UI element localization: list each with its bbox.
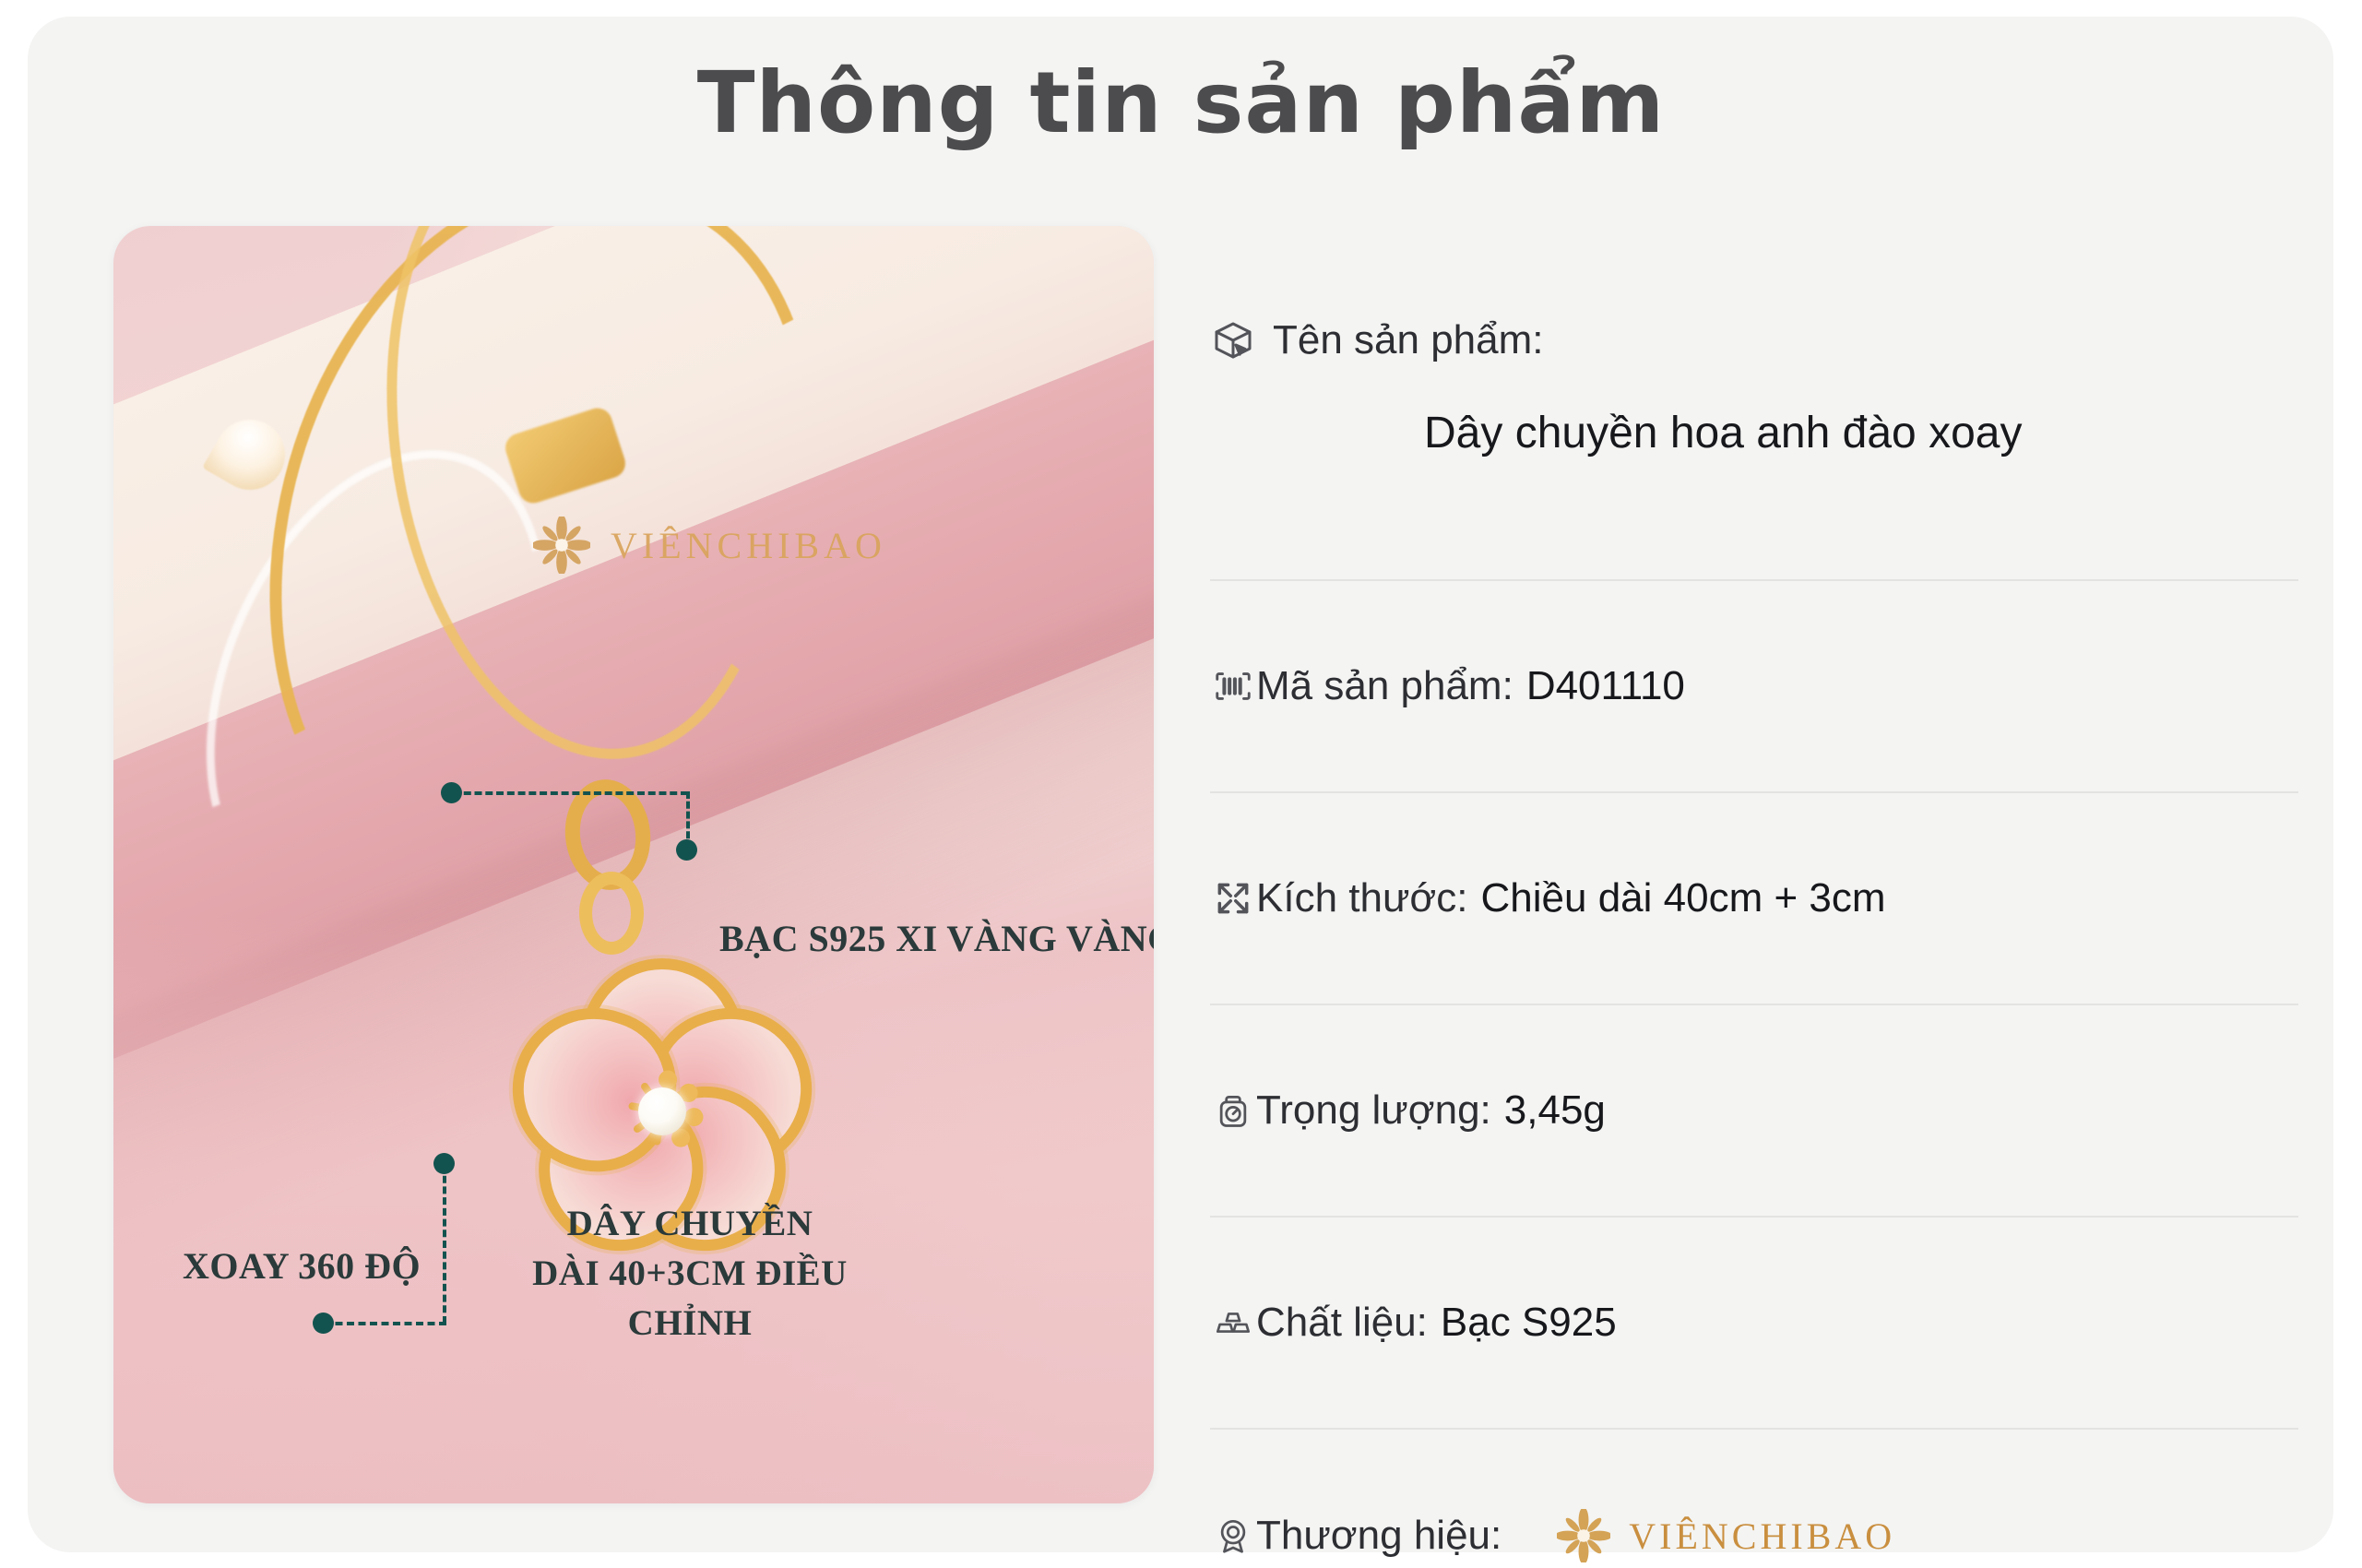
spec-row-brand: Thương hiệu: VIÊNCHIBAO (1210, 1430, 2298, 1568)
spec-value-material: Bạc S925 (1441, 1300, 1617, 1346)
annotation-plating: BẠC S925 XI VÀNG VÀNG (719, 913, 1154, 964)
spec-label-dimensions: Kích thước: (1256, 875, 1468, 921)
spec-label-material: Chất liệu: (1256, 1300, 1428, 1346)
spec-row-dimensions: Kích thước: Chiều dài 40cm + 3cm (1210, 793, 2298, 1005)
spec-label-brand: Thương hiệu: (1256, 1513, 1501, 1559)
package-cursor-icon (1210, 317, 1256, 363)
barcode-icon (1210, 663, 1256, 709)
photo-watermark: VIÊNCHIBAO (533, 517, 886, 574)
annotation-chain-line1: DÂY CHUYỀN (510, 1199, 870, 1249)
product-photo-card[interactable]: VIÊNCHIBAO BẠC S925 XI VÀNG VÀNG XOAY 36… (113, 226, 1154, 1503)
vienchibao-flower-icon (1557, 1509, 1610, 1562)
spec-row-product-code: Mã sản phẩm: D401110 (1210, 581, 2298, 793)
scale-icon (1210, 1087, 1256, 1134)
product-info-page: Thông tin sản phẩm (0, 0, 2362, 1568)
spec-row-product-name: Tên sản phẩm: Dây chuyền hoa anh đào xoa… (1210, 277, 2298, 581)
watermark-brand-text: VIÊNCHIBAO (611, 524, 886, 567)
spec-row-material: Chất liệu: Bạc S925 (1210, 1218, 2298, 1430)
spec-value-product-name: Dây chuyền hoa anh đào xoay (1210, 408, 2298, 458)
anno-line-rotate-v (443, 1165, 446, 1324)
product-spec-list: Tên sản phẩm: Dây chuyền hoa anh đào xoa… (1210, 277, 2298, 1568)
spec-value-brand: VIÊNCHIBAO (1629, 1515, 1895, 1558)
spec-row-weight: Trọng lượng: 3,45g (1210, 1005, 2298, 1218)
vienchibao-flower-icon (533, 517, 590, 574)
brand-logo-lockup: VIÊNCHIBAO (1557, 1509, 1895, 1562)
ingot-stack-icon (1210, 1300, 1256, 1346)
spec-label-product-name: Tên sản phẩm: (1273, 317, 1544, 363)
anno-line-rotate-h (324, 1322, 446, 1325)
annotation-rotation: XOAY 360 ĐỘ (183, 1241, 421, 1291)
page-title: Thông tin sản phẩm (0, 53, 2362, 154)
spec-value-product-code: D401110 (1526, 663, 1685, 709)
expand-arrows-icon (1210, 875, 1256, 921)
spec-label-product-code: Mã sản phẩm: (1256, 663, 1513, 709)
spec-value-weight: 3,45g (1504, 1087, 1606, 1134)
anno-dot-rotate-end (313, 1313, 334, 1334)
spec-value-dimensions: Chiều dài 40cm + 3cm (1481, 875, 1886, 921)
anno-line-plating-h (453, 791, 688, 795)
spec-label-weight: Trọng lượng: (1256, 1087, 1491, 1134)
anno-dot-plating-end (676, 839, 697, 861)
annotation-chain-line2: DÀI 40+3CM ĐIỀU CHỈNH (510, 1249, 870, 1348)
center-diamond (638, 1087, 686, 1135)
award-seal-icon (1210, 1513, 1256, 1559)
